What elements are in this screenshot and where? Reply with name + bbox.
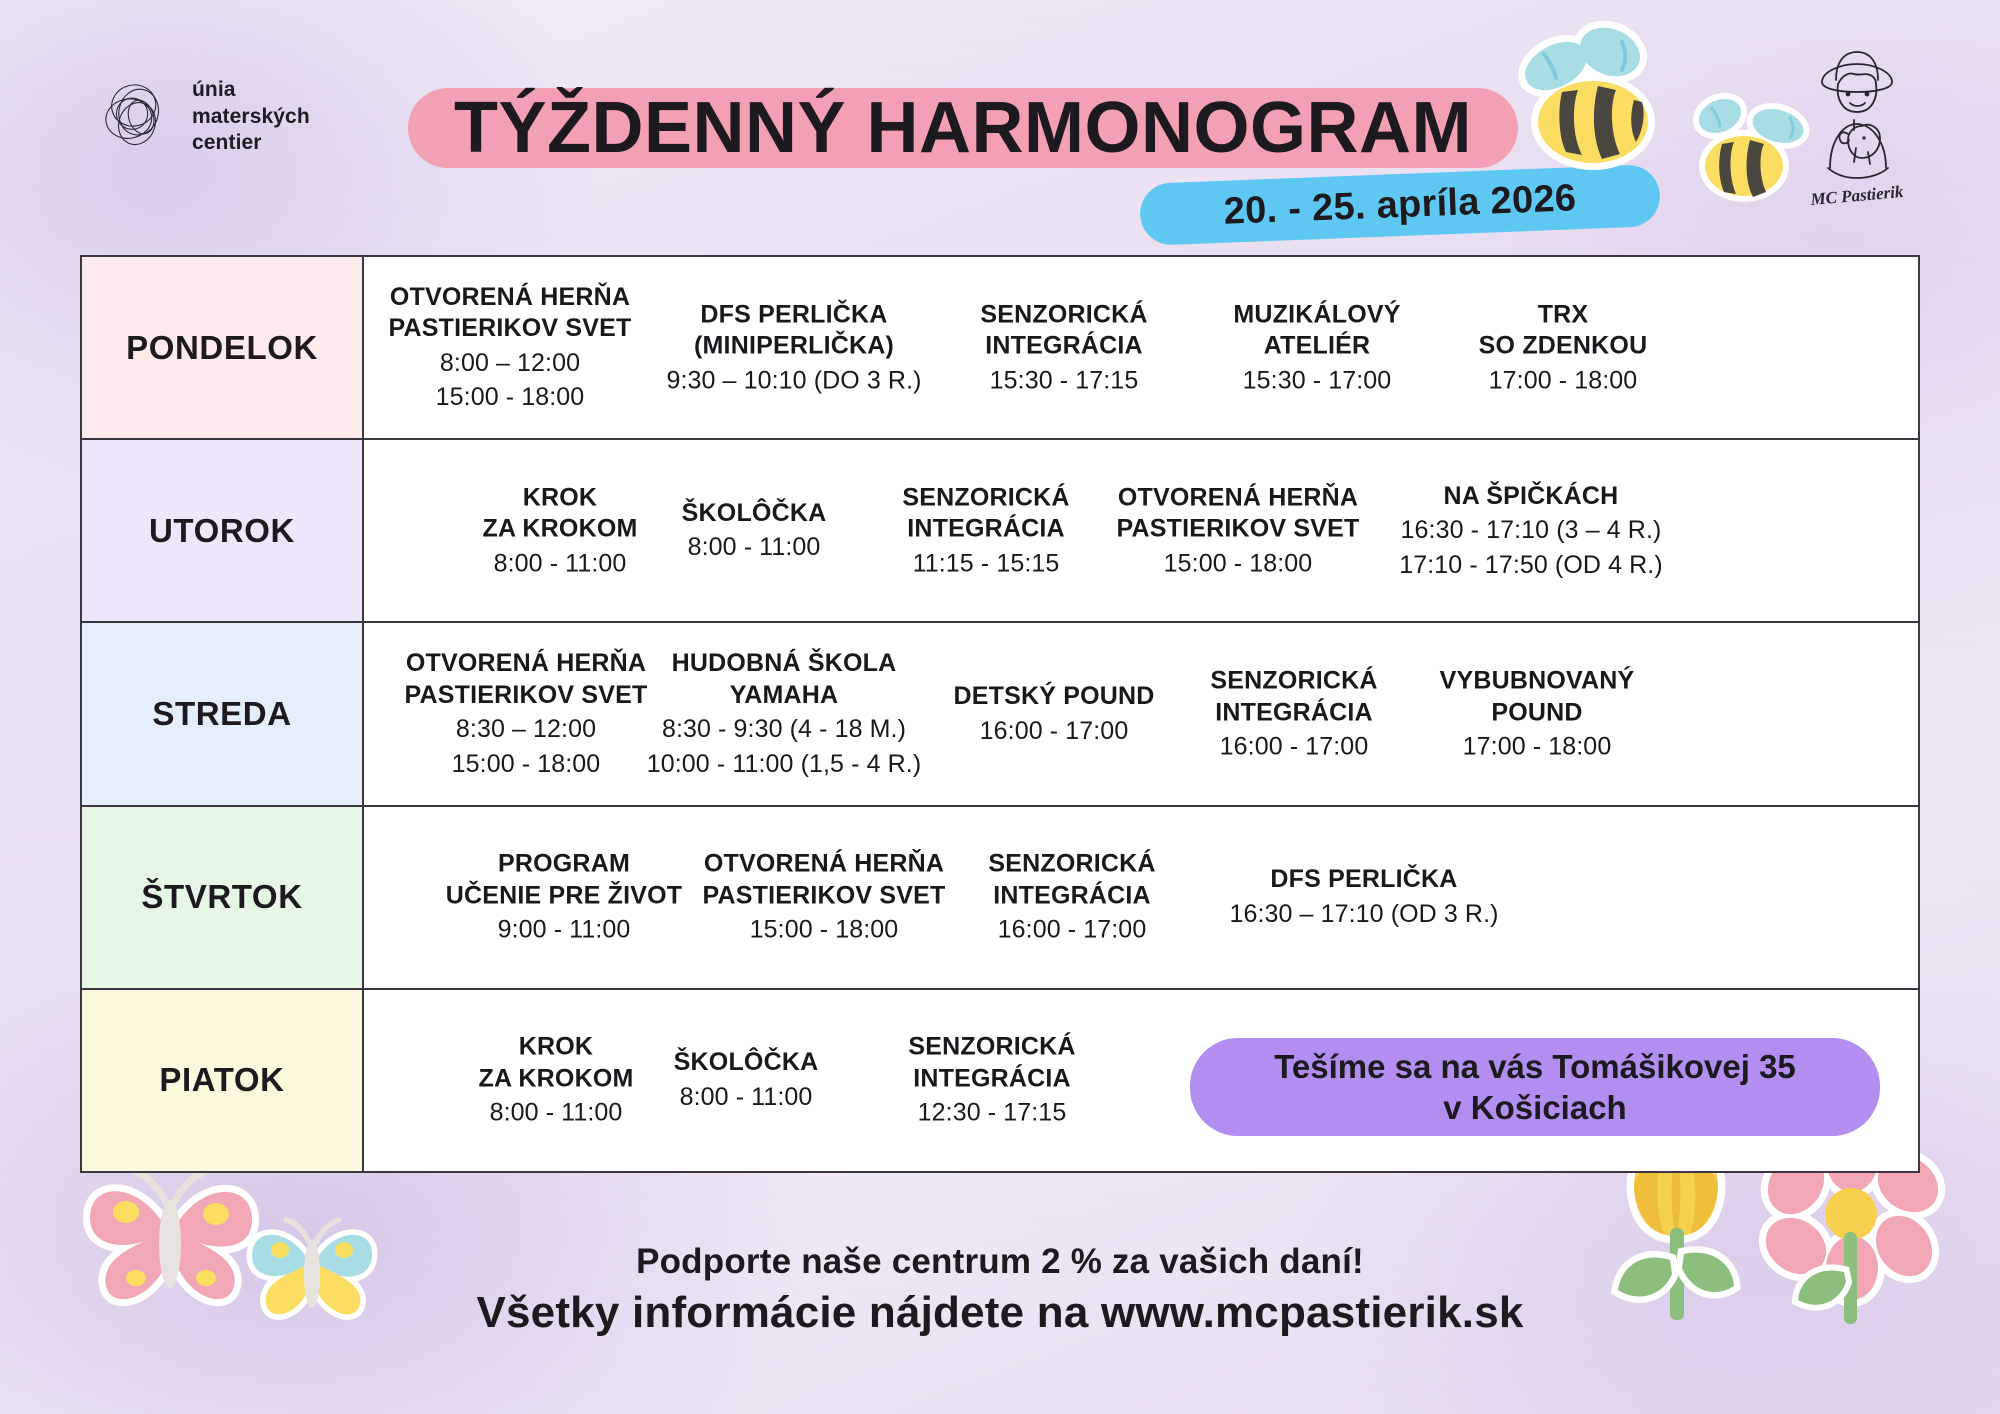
event-entry: ŠKOLÔČKA8:00 - 11:00 — [674, 1047, 819, 1113]
event-title-line: DFS PERLIČKA — [666, 299, 921, 331]
event-title-line: SENZORICKÁ — [1210, 665, 1377, 697]
event-title-line: HUDOBNÁ ŠKOLA — [647, 648, 922, 680]
mc-pastierik-logo-icon — [1792, 38, 1922, 198]
schedule-row: ŠTVRTOKPROGRAMUČENIE PRE ŽIVOT9:00 - 11:… — [82, 807, 1918, 990]
day-label: ŠTVRTOK — [141, 878, 302, 916]
event-time-line: 8:00 - 11:00 — [478, 1097, 633, 1130]
event-time-line: 16:00 - 17:00 — [1210, 730, 1377, 763]
umc-logo: únia materských centier — [96, 76, 310, 158]
event-title-line: ATELIÉR — [1233, 330, 1400, 362]
event-title-line: ZA KROKOM — [478, 1063, 633, 1095]
event-title-line: PASTIERIKOV SVET — [702, 880, 945, 912]
event-time-line: 17:10 - 17:50 (OD 4 R.) — [1399, 549, 1663, 582]
event-time-line: 9:00 - 11:00 — [446, 913, 683, 946]
address-callout: Tešíme sa na vás Tomášikovej 35 v Košici… — [1190, 1038, 1880, 1136]
event-time-line: 8:30 - 9:30 (4 - 18 M.) — [647, 713, 922, 746]
event-entry: NA ŠPIČKÁCH16:30 - 17:10 (3 – 4 R.)17:10… — [1399, 481, 1663, 582]
day-events: OTVORENÁ HERŇAPASTIERIKOV SVET8:30 – 12:… — [364, 623, 1918, 804]
event-title-line: INTEGRÁCIA — [908, 1063, 1075, 1095]
event-time-line: 8:00 - 11:00 — [482, 547, 637, 580]
event-time-line: 17:00 - 18:00 — [1440, 730, 1635, 763]
event-entry: SENZORICKÁINTEGRÁCIA16:00 - 17:00 — [1210, 665, 1377, 763]
event-entry: PROGRAMUČENIE PRE ŽIVOT9:00 - 11:00 — [446, 848, 683, 946]
event-title-line: ŠKOLÔČKA — [674, 1047, 819, 1079]
footer-website-text[interactable]: Všetky informácie nájdete na www.mcpasti… — [0, 1288, 2000, 1338]
event-title-line: MUZIKÁLOVÝ — [1233, 299, 1400, 331]
address-line-1: Tešíme sa na vás Tomášikovej 35 — [1274, 1046, 1796, 1087]
event-title-line: PASTIERIKOV SVET — [1116, 514, 1359, 546]
event-time-line: 15:30 - 17:00 — [1233, 364, 1400, 397]
date-range-text: 20. - 25. apríla 2026 — [1223, 177, 1577, 234]
event-time-line: 15:00 - 18:00 — [1116, 547, 1359, 580]
event-title-line: OTVORENÁ HERŇA — [702, 848, 945, 880]
event-time-line: 16:30 - 17:10 (3 – 4 R.) — [1399, 514, 1663, 547]
day-cell-streda: STREDA — [82, 623, 364, 804]
event-entry: SENZORICKÁINTEGRÁCIA16:00 - 17:00 — [988, 848, 1155, 946]
day-label: STREDA — [152, 695, 291, 733]
event-time-line: 11:15 - 15:15 — [902, 547, 1069, 580]
event-entry: HUDOBNÁ ŠKOLAYAMAHA8:30 - 9:30 (4 - 18 M… — [647, 648, 922, 780]
event-title-line: (MINIPERLIČKA) — [666, 330, 921, 362]
page-title: TÝŽDENNÝ HARMONOGRAM — [408, 76, 1518, 180]
event-entry: OTVORENÁ HERŇAPASTIERIKOV SVET15:00 - 18… — [1116, 482, 1359, 580]
event-title-line: ZA KROKOM — [482, 514, 637, 546]
event-title-line: KROK — [482, 482, 637, 514]
event-title-line: PROGRAM — [446, 848, 683, 880]
event-title-line: INTEGRÁCIA — [902, 514, 1069, 546]
day-events: KROKZA KROKOM8:00 - 11:00ŠKOLÔČKA8:00 - … — [364, 440, 1918, 621]
event-entry: SENZORICKÁINTEGRÁCIA12:30 - 17:15 — [908, 1032, 1075, 1130]
event-entry: KROKZA KROKOM8:00 - 11:00 — [478, 1032, 633, 1130]
event-entry: ŠKOLÔČKA8:00 - 11:00 — [682, 498, 827, 564]
schedule-row: UTOROKKROKZA KROKOM8:00 - 11:00ŠKOLÔČKA8… — [82, 440, 1918, 623]
event-title-line: PASTIERIKOV SVET — [388, 313, 631, 345]
event-time-line: 8:00 - 11:00 — [674, 1081, 819, 1114]
umc-circles-icon — [96, 76, 178, 158]
event-entry: OTVORENÁ HERŇAPASTIERIKOV SVET15:00 - 18… — [702, 848, 945, 946]
event-entry: DFS PERLIČKA16:30 – 17:10 (OD 3 R.) — [1229, 864, 1498, 930]
event-time-line: 8:00 – 12:00 — [388, 347, 631, 380]
event-time-line: 9:30 – 10:10 (DO 3 R.) — [666, 364, 921, 397]
event-title-line: SENZORICKÁ — [902, 482, 1069, 514]
event-title-line: KROK — [478, 1032, 633, 1064]
event-entry: DFS PERLIČKA(MINIPERLIČKA)9:30 – 10:10 (… — [666, 299, 921, 397]
day-cell-utorok: UTOROK — [82, 440, 364, 621]
umc-logo-line-3: centier — [192, 130, 310, 157]
day-label: UTOROK — [149, 512, 295, 550]
event-time-line: 17:00 - 18:00 — [1479, 364, 1648, 397]
day-label: PONDELOK — [126, 329, 318, 367]
event-title-line: OTVORENÁ HERŇA — [404, 648, 647, 680]
address-callout-text: Tešíme sa na vás Tomášikovej 35 v Košici… — [1274, 1046, 1796, 1129]
event-title-line: DFS PERLIČKA — [1229, 864, 1498, 896]
event-time-line: 10:00 - 11:00 (1,5 - 4 R.) — [647, 748, 922, 781]
event-time-line: 16:00 - 17:00 — [953, 715, 1154, 748]
event-title-line: UČENIE PRE ŽIVOT — [446, 880, 683, 912]
event-title-line: SENZORICKÁ — [980, 299, 1147, 331]
schedule-row: PONDELOKOTVORENÁ HERŇAPASTIERIKOV SVET8:… — [82, 257, 1918, 440]
day-cell-piatok: PIATOK — [82, 990, 364, 1171]
event-entry: MUZIKÁLOVÝATELIÉR15:30 - 17:00 — [1233, 299, 1400, 397]
event-time-line: 15:00 - 18:00 — [404, 748, 647, 781]
event-time-line: 15:00 - 18:00 — [702, 913, 945, 946]
event-title-line: POUND — [1440, 697, 1635, 729]
event-entry: OTVORENÁ HERŇAPASTIERIKOV SVET8:00 – 12:… — [388, 282, 631, 414]
day-events: OTVORENÁ HERŇAPASTIERIKOV SVET8:00 – 12:… — [364, 257, 1918, 438]
event-time-line: 8:00 - 11:00 — [682, 531, 827, 564]
event-time-line: 15:30 - 17:15 — [980, 364, 1147, 397]
day-cell-štvrtok: ŠTVRTOK — [82, 807, 364, 988]
event-time-line: 16:00 - 17:00 — [988, 913, 1155, 946]
event-title-line: SENZORICKÁ — [908, 1032, 1075, 1064]
event-title-line: YAMAHA — [647, 680, 922, 712]
schedule-row: STREDAOTVORENÁ HERŇAPASTIERIKOV SVET8:30… — [82, 623, 1918, 806]
event-title-line: INTEGRÁCIA — [1210, 697, 1377, 729]
event-entry: DETSKÝ POUND16:00 - 17:00 — [953, 681, 1154, 747]
event-time-line: 16:30 – 17:10 (OD 3 R.) — [1229, 898, 1498, 931]
event-entry: TRXSO ZDENKOU17:00 - 18:00 — [1479, 299, 1648, 397]
event-entry: SENZORICKÁINTEGRÁCIA11:15 - 15:15 — [902, 482, 1069, 580]
event-title-line: NA ŠPIČKÁCH — [1399, 481, 1663, 513]
day-events: PROGRAMUČENIE PRE ŽIVOT9:00 - 11:00OTVOR… — [364, 807, 1918, 988]
event-title-line: ŠKOLÔČKA — [682, 498, 827, 530]
umc-logo-line-1: únia — [192, 77, 310, 104]
event-title-line: VYBUBNOVANÝ — [1440, 665, 1635, 697]
event-title-line: SENZORICKÁ — [988, 848, 1155, 880]
event-title-line: DETSKÝ POUND — [953, 681, 1154, 713]
event-time-line: 8:30 – 12:00 — [404, 713, 647, 746]
event-time-line: 15:00 - 18:00 — [388, 381, 631, 414]
footer-donation-text: Podporte naše centrum 2 % za vašich daní… — [0, 1242, 2000, 1282]
event-title-line: INTEGRÁCIA — [988, 880, 1155, 912]
umc-logo-text: únia materských centier — [192, 77, 310, 158]
event-entry: VYBUBNOVANÝPOUND17:00 - 18:00 — [1440, 665, 1635, 763]
umc-logo-line-2: materských — [192, 104, 310, 131]
event-entry: KROKZA KROKOM8:00 - 11:00 — [482, 482, 637, 580]
event-title-line: OTVORENÁ HERŇA — [388, 282, 631, 314]
footer: Podporte naše centrum 2 % za vašich daní… — [0, 1242, 2000, 1338]
weekly-schedule-table: PONDELOKOTVORENÁ HERŇAPASTIERIKOV SVET8:… — [80, 255, 1920, 1173]
event-title-line: SO ZDENKOU — [1479, 330, 1648, 362]
event-title-line: TRX — [1479, 299, 1648, 331]
day-cell-pondelok: PONDELOK — [82, 257, 364, 438]
address-line-2: v Košiciach — [1274, 1087, 1796, 1128]
event-entry: SENZORICKÁINTEGRÁCIA15:30 - 17:15 — [980, 299, 1147, 397]
event-title-line: INTEGRÁCIA — [980, 330, 1147, 362]
day-label: PIATOK — [159, 1061, 284, 1099]
event-title-line: OTVORENÁ HERŇA — [1116, 482, 1359, 514]
event-entry: OTVORENÁ HERŇAPASTIERIKOV SVET8:30 – 12:… — [404, 648, 647, 780]
event-title-line: PASTIERIKOV SVET — [404, 680, 647, 712]
event-time-line: 12:30 - 17:15 — [908, 1097, 1075, 1130]
